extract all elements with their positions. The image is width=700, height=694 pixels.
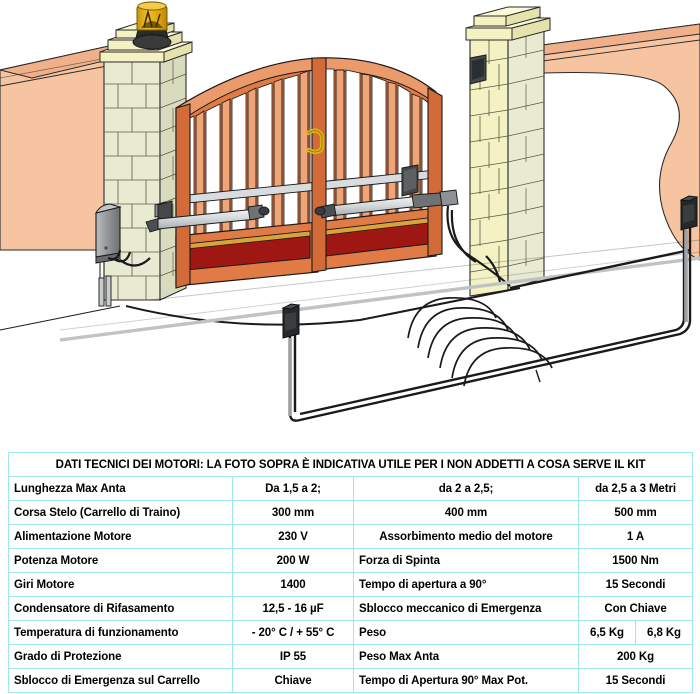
- table-header-row: DATI TECNICI DEI MOTORI: LA FOTO SOPRA È…: [9, 453, 693, 477]
- row-value-3: Sblocco meccanico di Emergenza: [354, 597, 579, 621]
- row-label: Condensatore di Rifasamento: [9, 597, 233, 621]
- row-value-3: Peso Max Anta: [354, 645, 579, 669]
- row-value-4: 200 Kg: [579, 645, 693, 669]
- table-row: Giri Motore 1400 Tempo di apertura a 90°…: [9, 573, 693, 597]
- row-value-4: da 2,5 a 3 Metri: [579, 477, 693, 501]
- row-label: Alimentazione Motore: [9, 525, 233, 549]
- table-row: Corsa Stelo (Carrello di Traino) 300 mm …: [9, 501, 693, 525]
- junction-box: [402, 165, 418, 196]
- row-value-2: 300 mm: [233, 501, 354, 525]
- row-label: Potenza Motore: [9, 549, 233, 573]
- technical-specifications: DATI TECNICI DEI MOTORI: LA FOTO SOPRA È…: [8, 452, 692, 693]
- row-value-4: 15 Secondi: [579, 669, 693, 693]
- row-label: Temperatura di funzionamento: [9, 621, 233, 645]
- row-value-2: IP 55: [233, 645, 354, 669]
- row-value-2: 1400: [233, 573, 354, 597]
- row-value-2: 200 W: [233, 549, 354, 573]
- row-value-3: Peso: [354, 621, 579, 645]
- spec-table: DATI TECNICI DEI MOTORI: LA FOTO SOPRA È…: [8, 452, 693, 693]
- row-value-2: Da 1,5 a 2;: [233, 477, 354, 501]
- row-value-4: 1 A: [579, 525, 693, 549]
- table-row: Lunghezza Max Anta Da 1,5 a 2; da 2 a 2,…: [9, 477, 693, 501]
- row-value-2: 230 V: [233, 525, 354, 549]
- table-row: Grado di Protezione IP 55 Peso Max Anta …: [9, 645, 693, 669]
- row-value-3: Forza di Spinta: [354, 549, 579, 573]
- row-value-2: Chiave: [233, 669, 354, 693]
- table-row: Sblocco di Emergenza sul Carrello Chiave…: [9, 669, 693, 693]
- row-value-2: 12,5 - 16 µF: [233, 597, 354, 621]
- flashing-beacon: [133, 2, 171, 49]
- row-label: Grado di Protezione: [9, 645, 233, 669]
- row-value-4: 500 mm: [579, 501, 693, 525]
- row-value-4: 1500 Nm: [579, 549, 693, 573]
- row-value-4: Con Chiave: [579, 597, 693, 621]
- row-value-3: Assorbimento medio del motore: [354, 525, 579, 549]
- table-row: Alimentazione Motore 230 V Assorbimento …: [9, 525, 693, 549]
- page-root: DATI TECNICI DEI MOTORI: LA FOTO SOPRA È…: [0, 0, 700, 694]
- row-value-2: - 20° C / + 55° C: [233, 621, 354, 645]
- table-row: Condensatore di Rifasamento 12,5 - 16 µF…: [9, 597, 693, 621]
- gate-automation-diagram: [0, 0, 700, 448]
- row-value-3: Tempo di apertura a 90°: [354, 573, 579, 597]
- row-label: Giri Motore: [9, 573, 233, 597]
- row-label: Sblocco di Emergenza sul Carrello: [9, 669, 233, 693]
- table-header-text: DATI TECNICI DEI MOTORI: LA FOTO SOPRA È…: [9, 453, 693, 477]
- pillar-right: [466, 7, 550, 296]
- diagram-canvas: [0, 0, 700, 448]
- row-label: Lunghezza Max Anta: [9, 477, 233, 501]
- row-value-4b: 6,8 Kg: [636, 621, 693, 645]
- table-row: Potenza Motore 200 W Forza di Spinta 150…: [9, 549, 693, 573]
- row-label: Corsa Stelo (Carrello di Traino): [9, 501, 233, 525]
- table-row-split: Temperatura di funzionamento - 20° C / +…: [9, 621, 693, 645]
- row-value-3: Tempo di Apertura 90° Max Pot.: [354, 669, 579, 693]
- row-value-3: da 2 a 2,5;: [354, 477, 579, 501]
- row-value-3: 400 mm: [354, 501, 579, 525]
- row-value-4: 15 Secondi: [579, 573, 693, 597]
- row-value-4a: 6,5 Kg: [579, 621, 636, 645]
- gate-leaf-right: [312, 58, 442, 272]
